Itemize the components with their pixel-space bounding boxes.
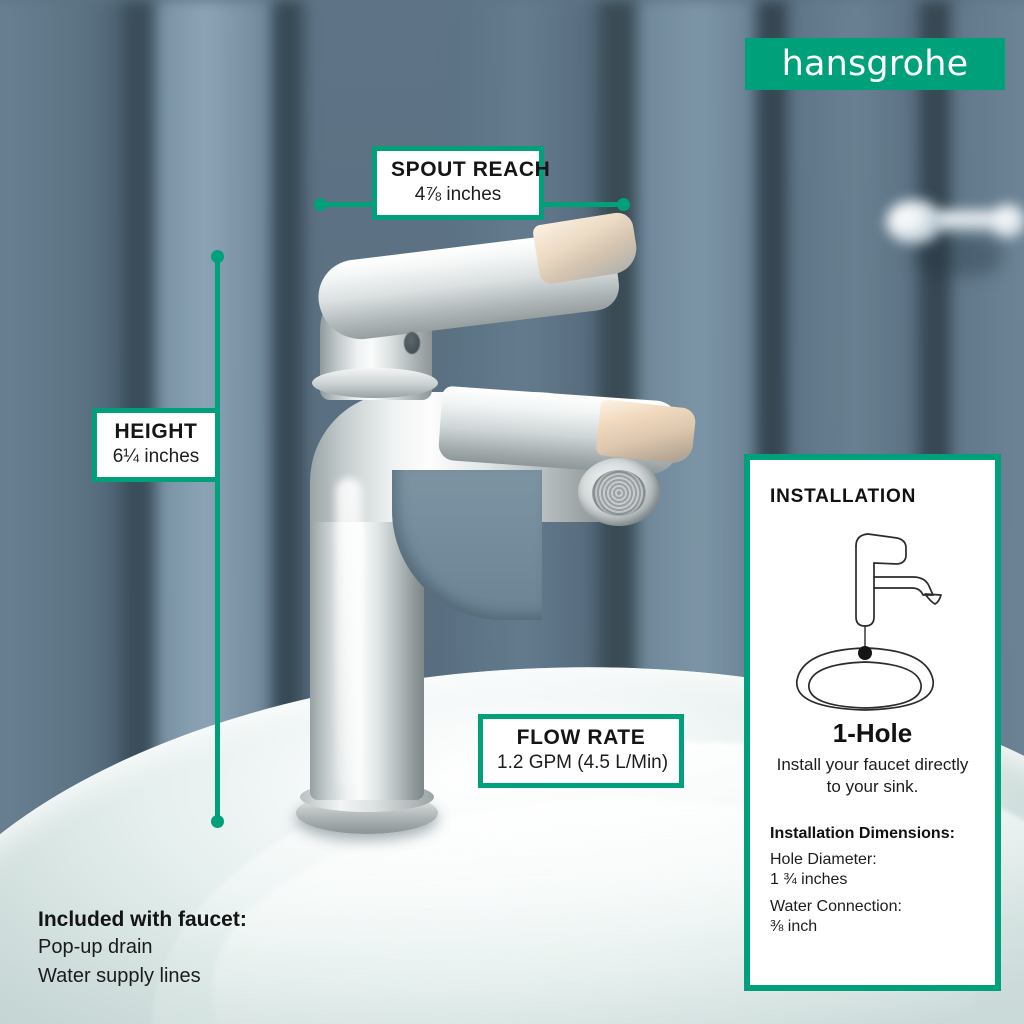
included-title: Included with faucet: xyxy=(38,906,368,933)
diagram-faucet-spout xyxy=(874,577,933,595)
installation-panel: INSTALLATION 1-Hole Install your faucet … xyxy=(744,454,1001,991)
water-connection-label: Water Connection: xyxy=(770,897,975,917)
diagram-mounting-hole xyxy=(858,646,872,660)
included-item: Pop-up drain xyxy=(38,933,368,961)
hole-diameter-label: Hole Diameter: xyxy=(770,850,975,870)
diagram-faucet-lever xyxy=(856,534,906,564)
hole-instruction-line-1: Install your faucet directly xyxy=(770,754,975,776)
faucet-spout-tip xyxy=(595,399,696,465)
faucet-highlight xyxy=(336,478,362,788)
callout-value: 6¼ inches xyxy=(111,445,201,469)
callout-flow-rate: FLOW RATE 1.2 GPM (4.5 L/Min) xyxy=(478,714,684,788)
faucet-aerator-mesh xyxy=(592,470,646,516)
included-item: Water supply lines xyxy=(38,962,368,990)
included-with-faucet: Included with faucet: Pop-up drain Water… xyxy=(38,906,368,990)
callout-height: HEIGHT 6¼ inches xyxy=(92,408,220,482)
hole-instruction-line-2: to your sink. xyxy=(770,776,975,798)
measurement-endpoint-dot xyxy=(211,250,224,263)
product-infographic: hansgrohe SPOUT REACH 4⅞ inches HEIGHT 6… xyxy=(0,0,1024,1024)
brand-logo: hansgrohe xyxy=(745,38,1005,90)
callout-value: 4⅞ inches xyxy=(391,183,525,207)
brand-logo-text: hansgrohe xyxy=(782,44,969,84)
installation-dimensions-title: Installation Dimensions: xyxy=(770,825,975,843)
callout-title: FLOW RATE xyxy=(497,726,665,750)
height-measurement-line xyxy=(215,252,220,826)
hole-instruction: Install your faucet directly to your sin… xyxy=(770,754,975,799)
diagram-sink-inner xyxy=(808,662,920,708)
installation-heading: INSTALLATION xyxy=(770,486,975,508)
measurement-endpoint-dot xyxy=(314,198,327,211)
faucet-handle-collar xyxy=(312,368,438,398)
callout-value: 1.2 GPM (4.5 L/Min) xyxy=(497,751,665,775)
water-connection-value: ⅜ inch xyxy=(770,917,975,937)
callout-spout-reach: SPOUT REACH 4⅞ inches xyxy=(372,146,544,220)
measurement-endpoint-dot xyxy=(211,815,224,828)
faucet-set-screw xyxy=(404,332,420,354)
faucet-lever-handle-tip xyxy=(532,211,640,286)
callout-title: SPOUT REACH xyxy=(391,158,525,182)
diagram-faucet-spout-under xyxy=(874,588,933,595)
callout-title: HEIGHT xyxy=(111,420,201,444)
measurement-endpoint-dot xyxy=(617,198,630,211)
hole-count-title: 1-Hole xyxy=(770,718,975,749)
diagram-faucet-body xyxy=(856,546,874,626)
one-hole-installation-diagram xyxy=(773,522,973,712)
hole-diameter-value: 1 ¾ inches xyxy=(770,870,975,890)
